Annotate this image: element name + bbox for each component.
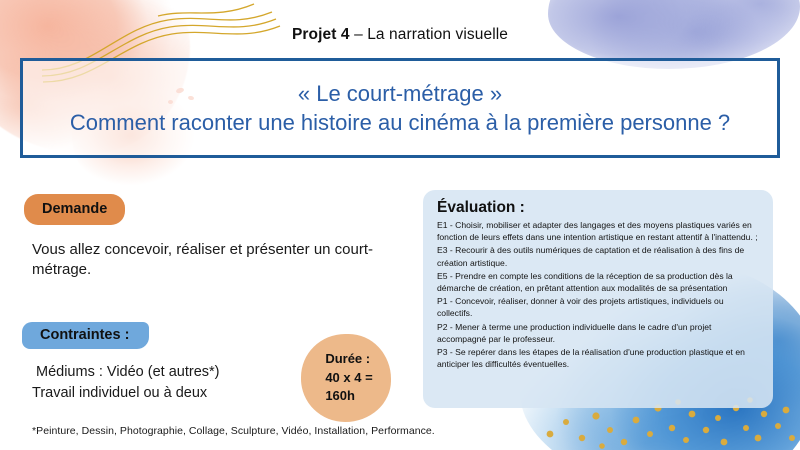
duree-line-2: 40 x 4 = [325, 369, 372, 387]
contraintes-body-text: Médiums : Vidéo (et autres*) Travail ind… [32, 362, 342, 404]
evaluation-criteria-list: E1 - Choisir, mobiliser et adapter des l… [437, 219, 759, 370]
evaluation-item: P2 - Mener à terme une production indivi… [437, 321, 759, 345]
contraintes-line-2: Travail individuel ou à deux [32, 383, 342, 404]
evaluation-panel: Évaluation : E1 - Choisir, mobiliser et … [423, 190, 773, 408]
duree-line-1: Durée : [325, 350, 372, 368]
evaluation-item: E1 - Choisir, mobiliser et adapter des l… [437, 219, 759, 243]
demande-badge: Demande [24, 194, 125, 225]
project-heading: Projet 4 – La narration visuelle [0, 26, 800, 44]
footnote-text: *Peinture, Dessin, Photographie, Collage… [32, 425, 435, 437]
main-title: « Le court-métrage » Comment raconter un… [48, 79, 752, 137]
evaluation-item: P3 - Se repérer dans les étapes de la ré… [437, 346, 759, 370]
main-title-line-1: « Le court-métrage » [70, 79, 730, 108]
project-subtitle: – La narration visuelle [354, 26, 508, 43]
duree-text: Durée : 40 x 4 = 160h [319, 350, 372, 405]
project-number: Projet 4 [292, 26, 350, 43]
evaluation-item: E5 - Prendre en compte les conditions de… [437, 270, 759, 294]
contraintes-line-1: Médiums : Vidéo (et autres*) [32, 362, 342, 383]
duree-line-3: 160h [325, 387, 372, 405]
evaluation-item: E3 - Recourir à des outils numériques de… [437, 244, 759, 268]
evaluation-item: P1 - Concevoir, réaliser, donner à voir … [437, 295, 759, 319]
demande-body-text: Vous allez concevoir, réaliser et présen… [32, 240, 402, 281]
main-title-line-2: Comment raconter une histoire au cinéma … [70, 108, 730, 137]
evaluation-title: Évaluation : [437, 199, 759, 217]
contraintes-badge: Contraintes : [22, 322, 149, 349]
duree-circle-badge: Durée : 40 x 4 = 160h [301, 334, 391, 422]
slide-canvas: Projet 4 – La narration visuelle « Le co… [0, 0, 800, 450]
main-title-box: « Le court-métrage » Comment raconter un… [20, 58, 780, 158]
